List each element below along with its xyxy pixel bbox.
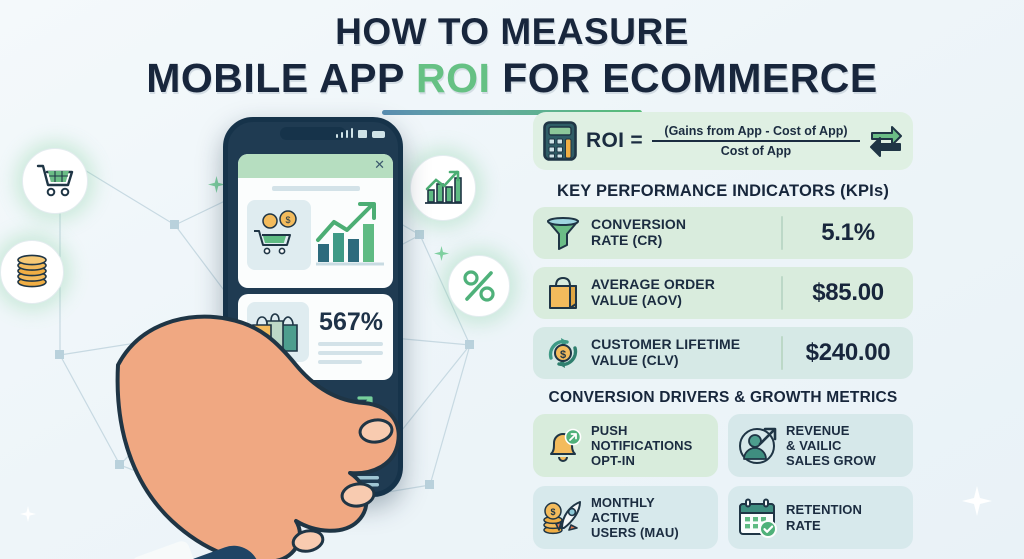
kpi-label-line2: VALUE (AOV) xyxy=(591,293,775,309)
formula-denominator: Cost of App xyxy=(652,143,860,158)
growth-chart-icon xyxy=(423,169,463,207)
shopping-cart-icon xyxy=(35,162,75,200)
kpi-label: AVERAGE ORDER VALUE (AOV) xyxy=(583,277,775,308)
kpi-label: CUSTOMER LIFETIME VALUE (CLV) xyxy=(583,337,775,368)
tile-label-line2: ACTIVE xyxy=(591,510,679,525)
kpi-label-line2: VALUE (CLV) xyxy=(591,353,775,369)
drivers-section-title: CONVERSION DRIVERS & GROWTH METRICS xyxy=(533,389,913,407)
tile-label: REVENUE & VAILIC SALES GROW xyxy=(780,423,876,469)
tile-label-line1: REVENUE xyxy=(786,423,876,438)
kpi-label-line1: CONVERSION xyxy=(591,217,775,233)
kpi-label-line1: CUSTOMER LIFETIME xyxy=(591,337,775,353)
bubble-coin-stack xyxy=(0,240,64,304)
drivers-row-2: $ MONTHLY ACTIVE USERS (MAU) xyxy=(533,486,913,549)
driver-tile-push-notifications[interactable]: PUSH NOTIFICATIONS OPT-IN xyxy=(533,414,718,477)
kpi-row-customer-lifetime-value[interactable]: $ CUSTOMER LIFETIME VALUE (CLV) $240.00 xyxy=(533,327,913,379)
drivers-row-1: PUSH NOTIFICATIONS OPT-IN REVENUE & VAIL… xyxy=(533,414,913,477)
kpi-icon-wrap: $ xyxy=(543,336,583,370)
roi-formula-box: ROI = (Gains from App - Cost of App) Cos… xyxy=(533,112,913,170)
svg-text:$: $ xyxy=(285,215,290,225)
tile-label-line3: SALES GROW xyxy=(786,453,876,468)
percent-icon xyxy=(462,269,496,303)
calculator-icon xyxy=(543,121,577,161)
kpi-divider xyxy=(781,276,783,310)
tile-label-line1: MONTHLY xyxy=(591,495,679,510)
tile-label-line1: PUSH xyxy=(591,423,692,438)
calendar-check-icon xyxy=(737,498,779,538)
driver-tile-retention-rate[interactable]: RETENTION RATE xyxy=(728,486,913,549)
tile-label: MONTHLY ACTIVE USERS (MAU) xyxy=(585,495,679,541)
tile-icon-wrap xyxy=(736,498,780,538)
fraction-rule xyxy=(652,140,860,142)
tile-label-line1: RETENTION xyxy=(786,502,862,517)
close-icon[interactable]: ✕ xyxy=(374,158,385,171)
tile-label-line2: & VAILIC xyxy=(786,438,876,453)
tile-icon-wrap xyxy=(736,426,780,466)
kpi-value-customer-lifetime-value: $240.00 xyxy=(789,339,907,367)
bubble-percent xyxy=(448,255,510,317)
card-header-bar xyxy=(238,154,393,178)
kpi-divider xyxy=(781,216,783,250)
kpi-row-average-order-value[interactable]: AVERAGE ORDER VALUE (AOV) $85.00 xyxy=(533,267,913,319)
bubble-growth-chart xyxy=(410,155,476,221)
title-line-1: HOW TO MEASURE xyxy=(0,12,1024,52)
driver-tile-monthly-active-users[interactable]: $ MONTHLY ACTIVE USERS (MAU) xyxy=(533,486,718,549)
kpi-label-line1: AVERAGE ORDER xyxy=(591,277,775,293)
tile-label-line3: USERS (MAU) xyxy=(591,525,679,540)
tile-label: RETENTION RATE xyxy=(780,502,862,532)
kpi-label: CONVERSION RATE (CR) xyxy=(583,217,775,248)
bubble-shopping-cart xyxy=(22,148,88,214)
recycle-dollar-icon: $ xyxy=(545,336,581,370)
shopping-bag-icon xyxy=(547,276,579,310)
tile-icon-wrap xyxy=(541,426,585,466)
hand-shape xyxy=(110,245,430,559)
title-text-after: FOR ECOMMERCE xyxy=(490,55,877,101)
formula-label: ROI = xyxy=(586,129,643,153)
bell-arrow-icon xyxy=(543,426,583,466)
formula-fraction: (Gains from App - Cost of App) Cost of A… xyxy=(652,124,860,158)
user-growth-icon xyxy=(738,426,778,466)
kpi-divider xyxy=(781,336,783,370)
funnel-icon xyxy=(546,216,580,250)
tile-label: PUSH NOTIFICATIONS OPT-IN xyxy=(585,423,692,469)
tile-label-line3: OPT-IN xyxy=(591,453,692,468)
driver-tile-revenue-growth[interactable]: REVENUE & VAILIC SALES GROW xyxy=(728,414,913,477)
tile-label-line2: RATE xyxy=(786,518,862,533)
title-line-2: MOBILE APP ROI FOR ECOMMERCE xyxy=(0,56,1024,100)
tile-icon-wrap: $ xyxy=(541,498,585,538)
sparkle-decoration xyxy=(962,486,992,516)
exchange-arrows-icon xyxy=(869,122,903,160)
phone-status-bar xyxy=(336,128,385,138)
kpi-section-title: KEY PERFORMANCE INDICATORS (KPIs) xyxy=(533,182,913,201)
svg-text:$: $ xyxy=(550,507,555,517)
svg-text:$: $ xyxy=(560,349,566,361)
coins-rocket-icon: $ xyxy=(542,498,584,538)
kpi-icon-wrap xyxy=(543,276,583,310)
coin-stack-icon xyxy=(13,254,51,290)
kpi-row-conversion-rate[interactable]: CONVERSION RATE (CR) 5.1% xyxy=(533,207,913,259)
kpi-value-average-order-value: $85.00 xyxy=(789,279,907,307)
kpi-value-conversion-rate: 5.1% xyxy=(789,219,907,247)
formula-numerator: (Gains from App - Cost of App) xyxy=(652,124,860,139)
kpi-icon-wrap xyxy=(543,216,583,250)
tile-label-line2: NOTIFICATIONS xyxy=(591,438,692,453)
metrics-panel: ROI = (Gains from App - Cost of App) Cos… xyxy=(533,112,913,558)
phone-illustration: ✕ $ xyxy=(0,95,520,559)
hand-illustration xyxy=(110,245,430,559)
kpi-label-line2: RATE (CR) xyxy=(591,233,775,249)
